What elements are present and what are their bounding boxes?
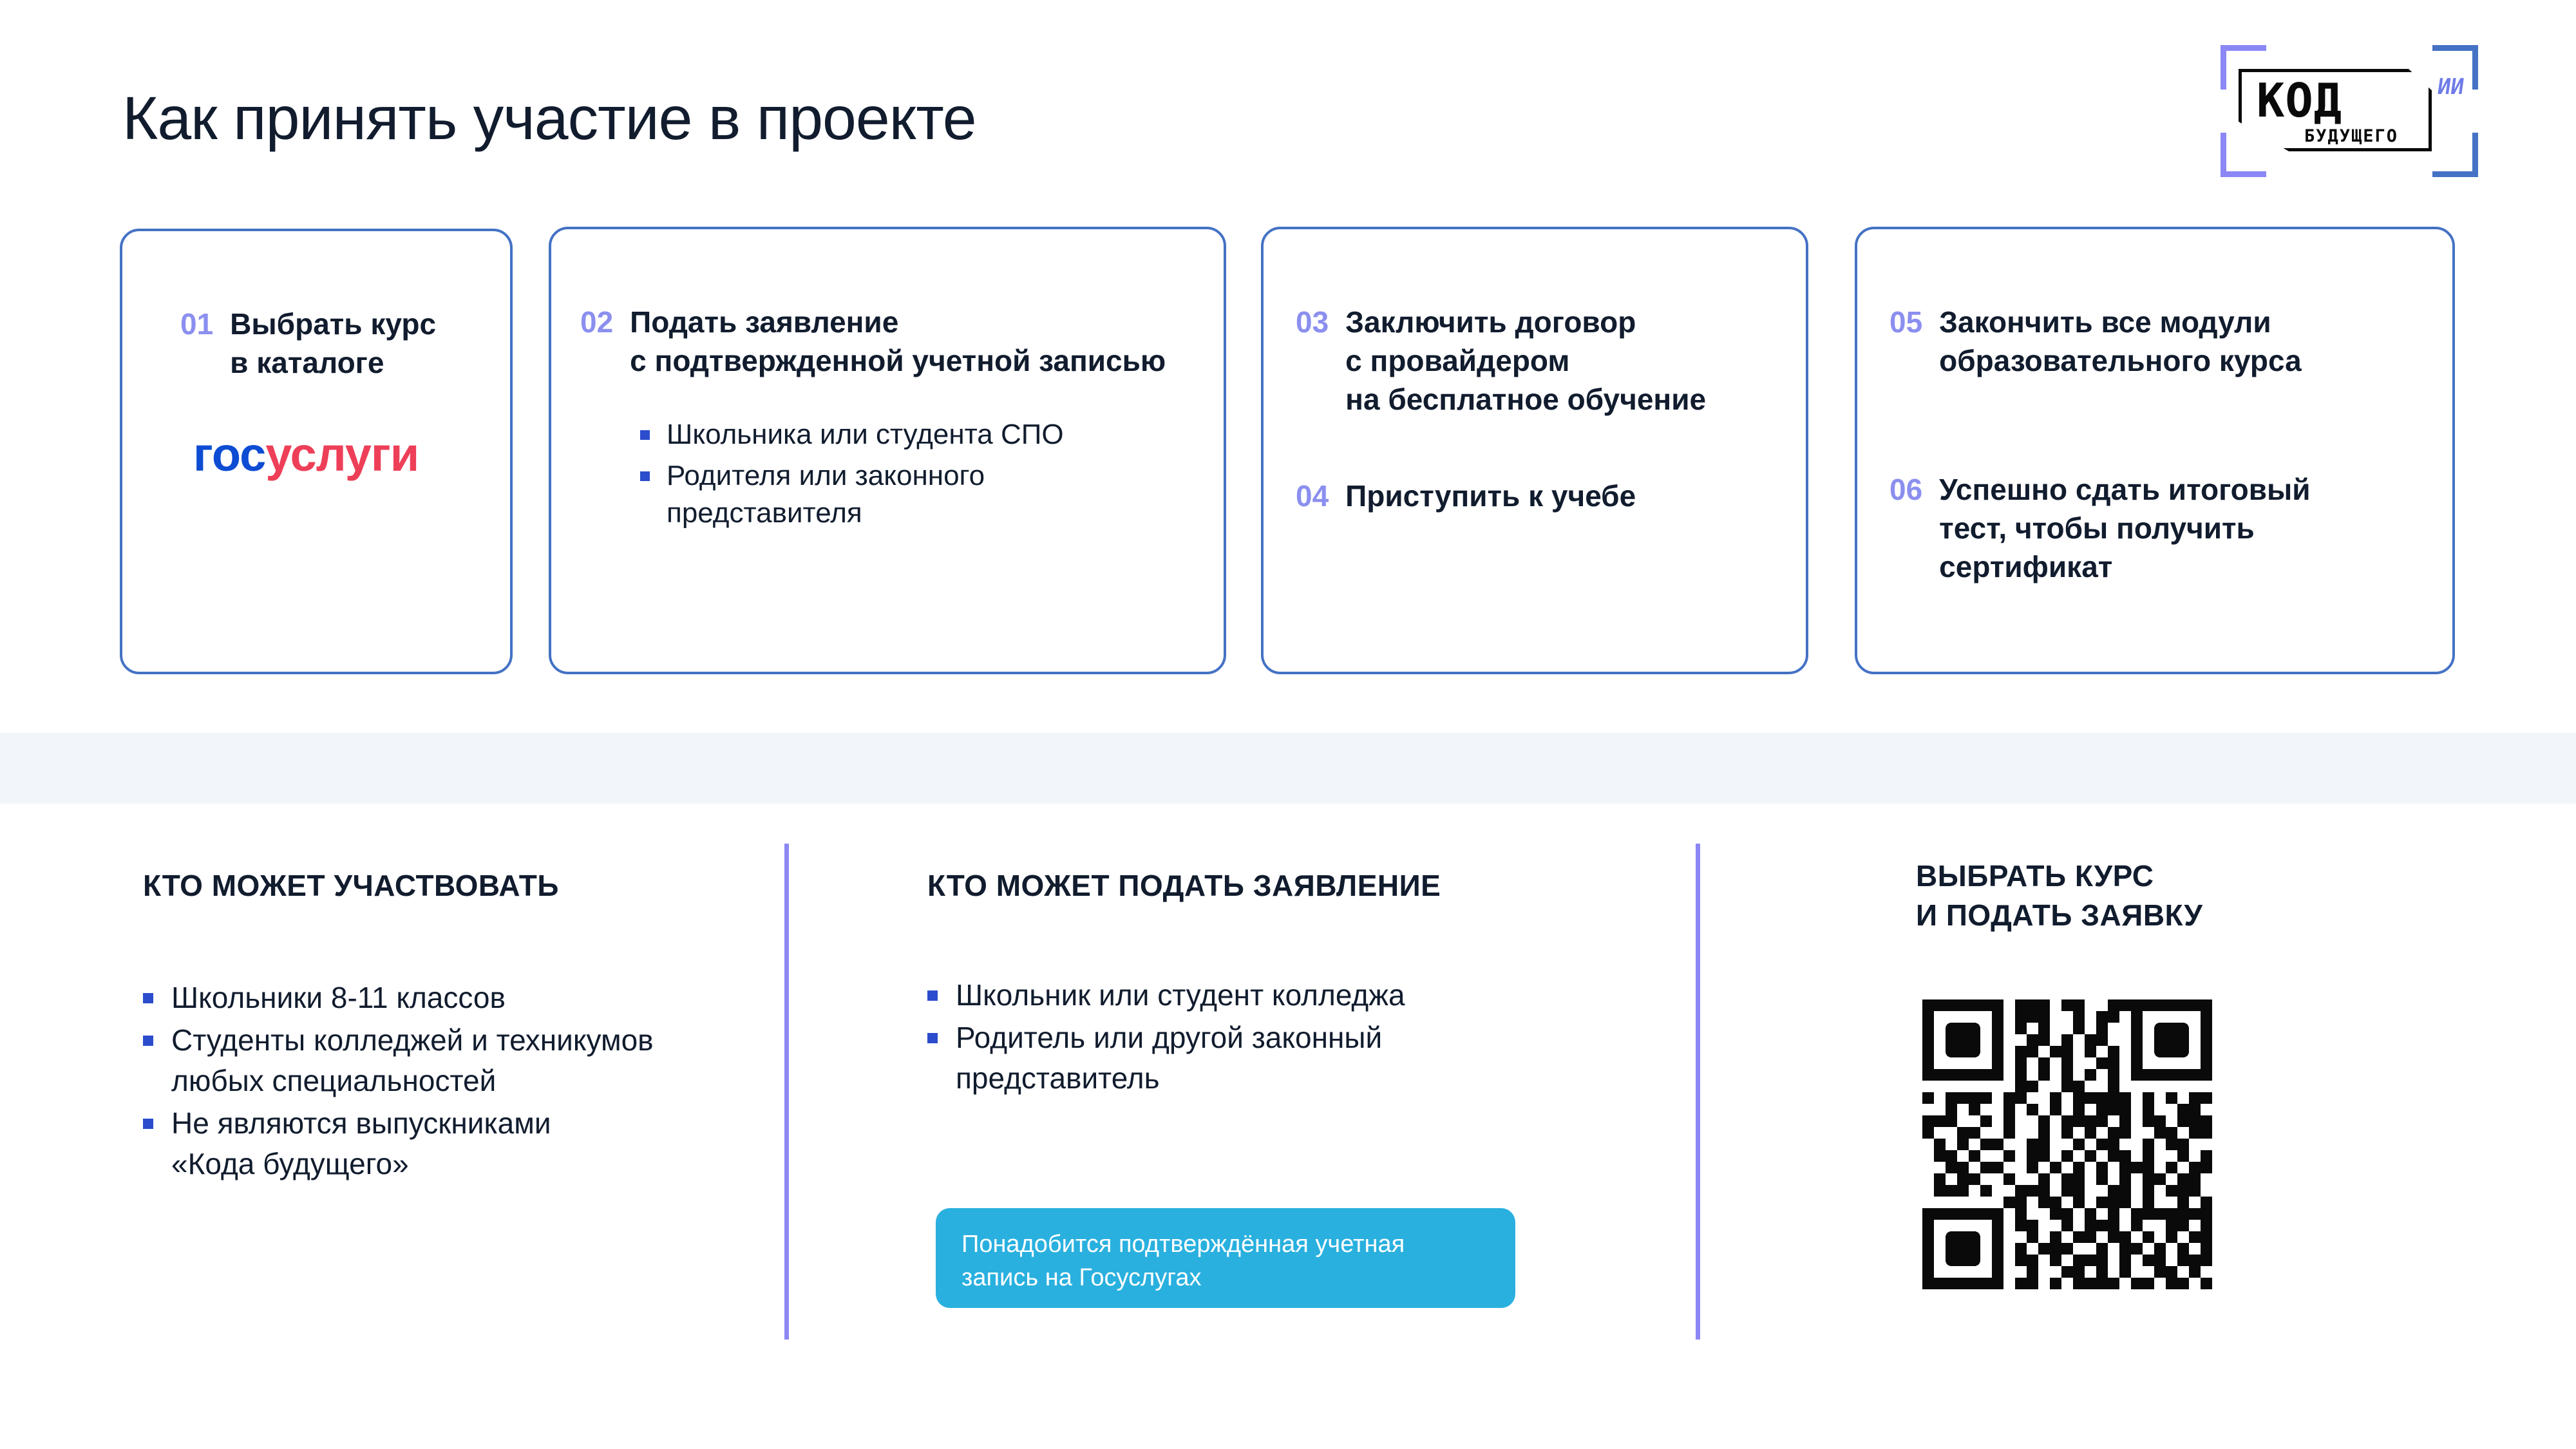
column-1-list: Школьники 8-11 классов Студенты колледже… xyxy=(143,978,755,1184)
bullet-square-icon xyxy=(143,993,153,1003)
step-02-bullet-list: Школьника или студента СПО Родителя или … xyxy=(640,416,1064,536)
column-2-list: Школьник или студент колледжа Родитель и… xyxy=(927,975,1655,1099)
step-number-04: 04 xyxy=(1296,477,1329,516)
step-card-02: 02 Подать заявление с подтвержденной уче… xyxy=(549,227,1226,674)
list-item: Школьники 8-11 классов xyxy=(143,978,755,1018)
step-04: 04 Приступить к учебе xyxy=(1296,477,1636,516)
step-03: 03 Заключить договор с провайдером на бе… xyxy=(1296,303,1706,419)
step-card-04: 05 Закончить все модули образовательного… xyxy=(1855,227,2455,674)
column-2-heading: КТО МОЖЕТ ПОДАТЬ ЗАЯВЛЕНИЕ xyxy=(927,866,1655,905)
brand-logo: КОД БУДУЩЕГО ИИ xyxy=(2221,45,2478,177)
column-who-can-apply: КТО МОЖЕТ ПОДАТЬ ЗАЯВЛЕНИЕ Школьник или … xyxy=(927,866,1655,1101)
bullet-square-icon xyxy=(640,430,650,440)
step-number-03: 03 xyxy=(1296,303,1329,342)
step-05: 05 Закончить все модули образовательного… xyxy=(1889,303,2302,381)
step-number-02: 02 xyxy=(580,303,613,342)
step-number-05: 05 xyxy=(1889,303,1922,342)
list-item: Школьника или студента СПО xyxy=(640,416,1064,453)
step-01: 01 Выбрать курс в каталоге xyxy=(180,305,436,383)
list-item-label: Родитель или другой законный представите… xyxy=(956,1018,1382,1098)
logo-ai-badge: ИИ xyxy=(2436,74,2466,100)
list-item: Родитель или другой законный представите… xyxy=(927,1018,1655,1098)
list-item-label: Студенты колледжей и техникумов любых сп… xyxy=(171,1020,654,1101)
list-item-label: Школьники 8-11 классов xyxy=(171,978,506,1018)
bullet-square-icon xyxy=(640,471,650,481)
list-item-label: Школьник или студент колледжа xyxy=(956,975,1405,1016)
column-choose-course: ВЫБРАТЬ КУРС И ПОДАТЬ ЗАЯВКУ xyxy=(1916,857,2444,934)
page-title: Как принять участие в проекте xyxy=(122,84,976,154)
step-text-05: Закончить все модули образовательного ку… xyxy=(1939,303,2302,381)
step-card-03: 03 Заключить договор с провайдером на бе… xyxy=(1261,227,1808,674)
list-item-label: Родителя или законного представителя xyxy=(667,457,985,532)
step-number-01: 01 xyxy=(180,305,213,344)
logo-sub-text: БУДУЩЕГО xyxy=(2304,128,2398,145)
bullet-square-icon xyxy=(927,1033,938,1043)
step-text-06: Успешно сдать итоговый тест, чтобы получ… xyxy=(1939,471,2310,586)
gosuslugi-account-notice-text: Понадобится подтверждённая учетная запис… xyxy=(961,1227,1490,1295)
bullet-square-icon xyxy=(927,990,938,1001)
gosuslugi-logo-blue: гос xyxy=(193,428,265,481)
logo-main-text: КОД xyxy=(2257,77,2342,124)
list-item: Студенты колледжей и техникумов любых сп… xyxy=(143,1020,755,1101)
step-card-01: 01 Выбрать курс в каталоге госуслуги xyxy=(120,229,513,674)
step-text-02: Подать заявление с подтвержденной учетно… xyxy=(630,303,1166,381)
gosuslugi-account-notice: Понадобится подтверждённая учетная запис… xyxy=(936,1208,1515,1308)
step-number-06: 06 xyxy=(1889,471,1922,509)
section-divider-band xyxy=(0,733,2576,804)
step-02: 02 Подать заявление с подтвержденной уче… xyxy=(580,303,1166,381)
step-06: 06 Успешно сдать итоговый тест, чтобы по… xyxy=(1889,471,2311,586)
bracket-bottom-right-icon xyxy=(2432,133,2478,177)
list-item: Школьник или студент колледжа xyxy=(927,975,1655,1016)
gosuslugi-logo-red: услуги xyxy=(265,428,419,481)
column-divider-2 xyxy=(1696,844,1700,1340)
step-text-01: Выбрать курс в каталоге xyxy=(230,305,436,383)
step-text-03: Заключить договор с провайдером на беспл… xyxy=(1345,303,1706,419)
bracket-bottom-left-icon xyxy=(2221,133,2266,177)
column-divider-1 xyxy=(784,844,789,1340)
list-item: Родителя или законного представителя xyxy=(640,457,1064,532)
gosuslugi-logo: госуслуги xyxy=(193,431,419,478)
column-who-can-participate: КТО МОЖЕТ УЧАСТВОВАТЬ Школьники 8-11 кла… xyxy=(143,866,755,1186)
list-item-label: Школьника или студента СПО xyxy=(667,416,1064,453)
list-item-label: Не являются выпускниками «Кода будущего» xyxy=(171,1103,551,1184)
qr-code[interactable] xyxy=(1922,999,2212,1289)
list-item: Не являются выпускниками «Кода будущего» xyxy=(143,1103,755,1184)
bullet-square-icon xyxy=(143,1036,153,1046)
bullet-square-icon xyxy=(143,1119,153,1129)
column-3-heading: ВЫБРАТЬ КУРС И ПОДАТЬ ЗАЯВКУ xyxy=(1916,857,2444,934)
column-1-heading: КТО МОЖЕТ УЧАСТВОВАТЬ xyxy=(143,866,755,905)
step-text-04: Приступить к учебе xyxy=(1345,477,1636,516)
qr-code-image xyxy=(1922,999,2212,1289)
